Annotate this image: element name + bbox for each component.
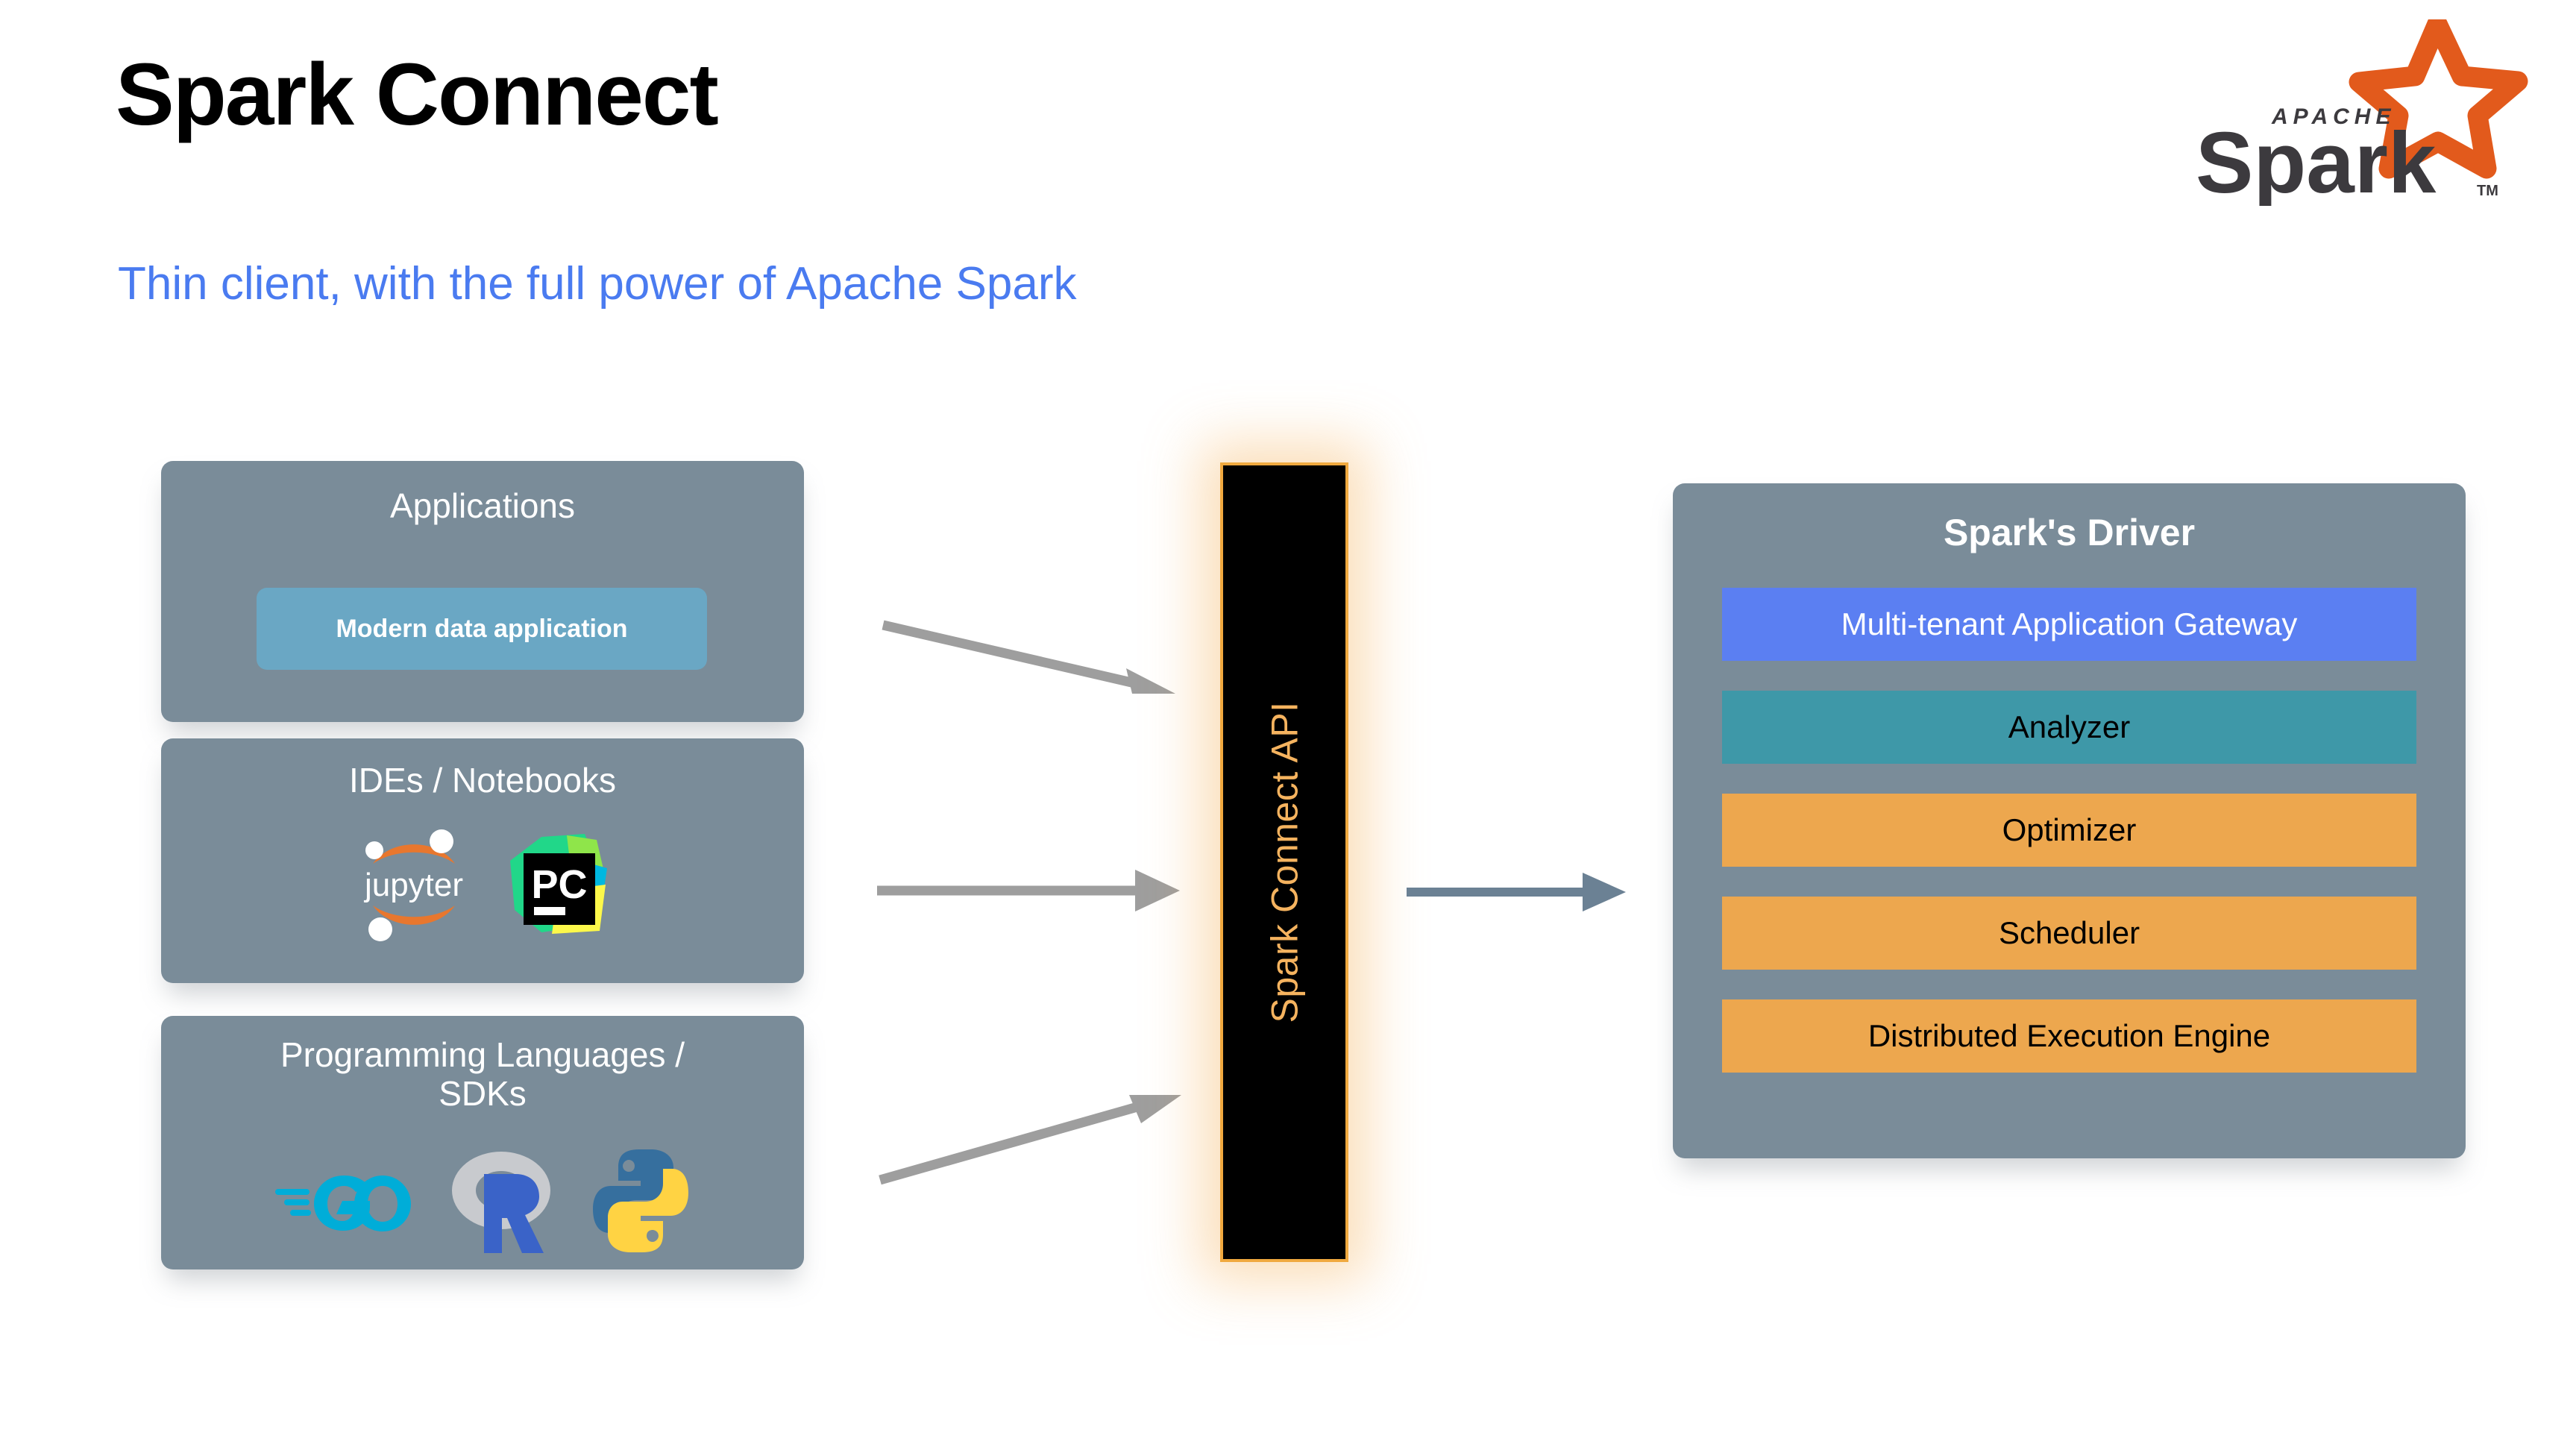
panel-ides-notebooks: IDEs / Notebooks jupyter PC xyxy=(161,738,804,983)
panel-applications: Applications Modern data application xyxy=(161,461,804,722)
r-logo xyxy=(438,1141,565,1264)
arrow-languages-to-api xyxy=(873,1059,1186,1193)
panel-programming-languages: Programming Languages / SDKs xyxy=(161,1016,804,1269)
ide-logo-row: jupyter PC xyxy=(161,819,804,950)
driver-component-list: Multi-tenant Application Gateway Analyze… xyxy=(1722,588,2416,1102)
arrow-ides-to-api xyxy=(873,858,1186,925)
panel-languages-title-line2: SDKs xyxy=(161,1074,804,1113)
svg-text:Spark: Spark xyxy=(2196,114,2437,206)
svg-text:PC: PC xyxy=(531,862,587,907)
spark-connect-api-bar: Spark Connect API xyxy=(1220,462,1348,1262)
driver-row-analyzer: Analyzer xyxy=(1722,691,2416,764)
apache-spark-logo: APACHE Spark TM xyxy=(2175,19,2533,206)
driver-row-scheduler: Scheduler xyxy=(1722,897,2416,970)
python-logo xyxy=(588,1145,693,1261)
panel-languages-title-line1: Programming Languages / xyxy=(161,1035,804,1074)
svg-text:TM: TM xyxy=(2477,183,2498,199)
driver-row-optimizer: Optimizer xyxy=(1722,794,2416,867)
page-subtitle: Thin client, with the full power of Apac… xyxy=(118,261,1076,307)
arrow-applications-to-api xyxy=(873,612,1186,709)
driver-row-distributed-execution-engine: Distributed Execution Engine xyxy=(1722,999,2416,1073)
jupyter-logo: jupyter xyxy=(351,819,477,950)
driver-row-multi-tenant-application-gateway: Multi-tenant Application Gateway xyxy=(1722,588,2416,661)
language-logo-row xyxy=(161,1141,804,1264)
page-title: Spark Connect xyxy=(116,51,717,139)
spark-driver-title: Spark's Driver xyxy=(1673,512,2466,554)
spark-connect-api-label: Spark Connect API xyxy=(1263,702,1306,1023)
panel-spark-driver: Spark's Driver Multi-tenant Application … xyxy=(1673,483,2466,1158)
pycharm-logo: PC xyxy=(503,826,615,942)
svg-text:jupyter: jupyter xyxy=(363,867,463,903)
go-logo xyxy=(272,1156,414,1249)
modern-data-application-chip: Modern data application xyxy=(257,588,707,670)
panel-ides-title: IDEs / Notebooks xyxy=(161,761,804,800)
arrow-api-to-driver xyxy=(1402,858,1641,925)
panel-applications-title: Applications xyxy=(161,486,804,525)
